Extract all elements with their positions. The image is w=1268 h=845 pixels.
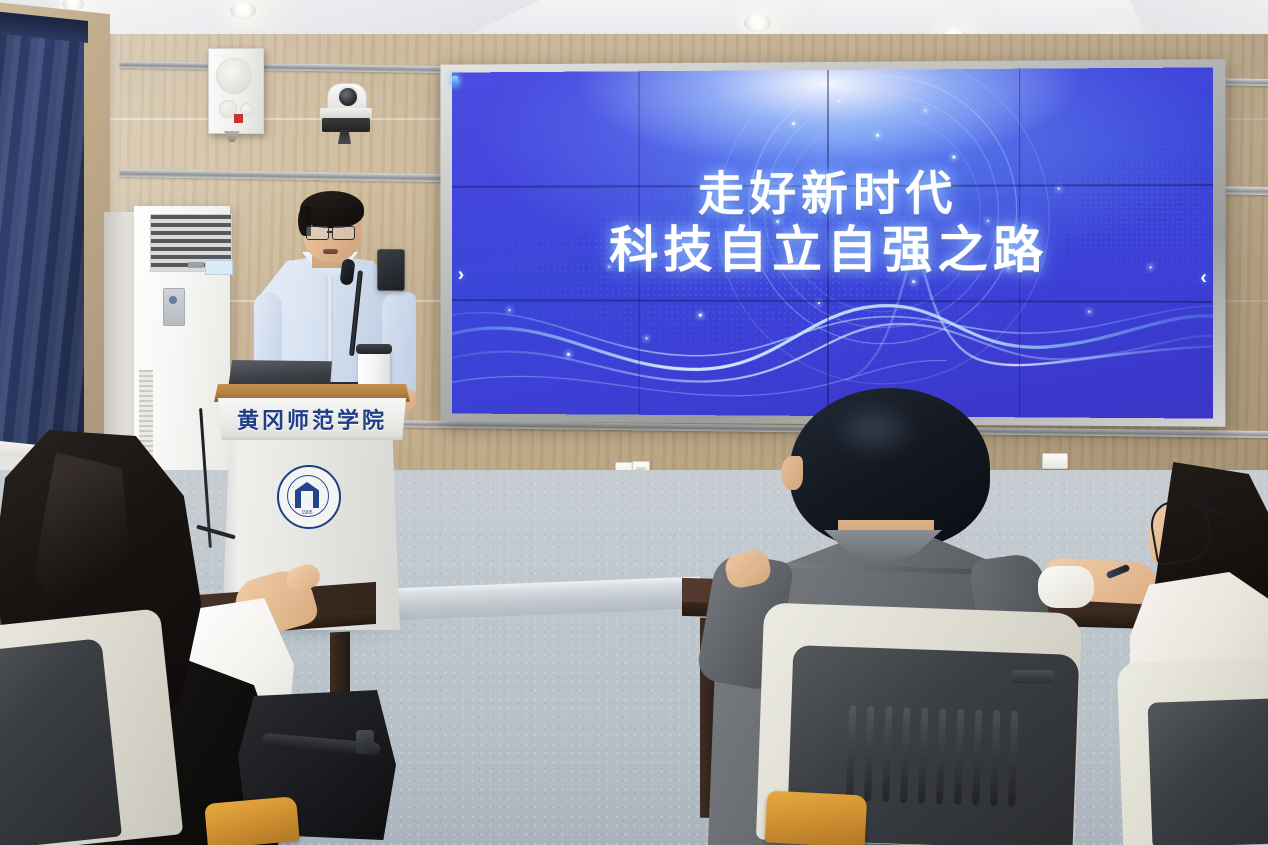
slide-nav-right-chevron-icon[interactable]: › (458, 266, 464, 285)
chair-vent-slots (846, 705, 1018, 807)
speaker-brand-logo (234, 114, 243, 123)
video-wall-power-led-icon (452, 76, 458, 85)
video-wall-screen[interactable]: 走好新时代 科技自立自强之路 › ‹ (452, 67, 1213, 418)
air-conditioner-control-panel[interactable] (163, 288, 185, 326)
chair-grip-handle[interactable] (1012, 670, 1054, 683)
presenter-glasses-left-lens (306, 226, 329, 240)
lecture-hall-photo: 走好新时代 科技自立自强之路 › ‹ (0, 0, 1268, 845)
chair-armrest[interactable] (204, 796, 300, 845)
backpack-buckle (356, 730, 374, 754)
auditorium-chair-back[interactable] (0, 638, 122, 845)
ceiling-downlight (230, 2, 256, 19)
slide-title-line2: 科技自立自强之路 (452, 221, 1213, 281)
presenter-glasses-bridge (327, 231, 333, 233)
presenter-mouth (323, 249, 338, 254)
chair-armrest[interactable] (765, 790, 868, 845)
slide-nav-left-chevron-icon[interactable]: ‹ (1200, 268, 1207, 287)
wall-outlet-plate[interactable] (1042, 453, 1068, 469)
window-curtain[interactable] (0, 19, 84, 457)
university-logo-emblem-cut (301, 491, 313, 508)
thermos-cup-lid[interactable] (356, 344, 392, 354)
slide-title-line1: 走好新时代 (452, 165, 1213, 222)
podium-venue-sign: 黄冈师范学院 (216, 400, 408, 438)
auditorium-chair-back[interactable] (1148, 697, 1268, 845)
camera-wall-mount (322, 118, 370, 132)
camera-lens-icon (337, 86, 359, 108)
speaker-woofer-icon (216, 58, 252, 94)
presenter-glasses-right-lens (332, 226, 355, 240)
ceiling-downlight (744, 14, 771, 32)
slide-title: 走好新时代 科技自立自强之路 (452, 165, 1213, 281)
audience-center-ear (781, 456, 803, 490)
audience-center-hair-highlight (830, 400, 920, 460)
air-conditioner-sticker (205, 260, 233, 275)
control-tablet[interactable] (377, 249, 405, 291)
university-logo-year: 1905 (288, 510, 326, 516)
audience-right-sleeve (1038, 566, 1094, 608)
air-conditioner-brand-badge (188, 262, 204, 268)
air-conditioner-display-icon (169, 296, 177, 304)
